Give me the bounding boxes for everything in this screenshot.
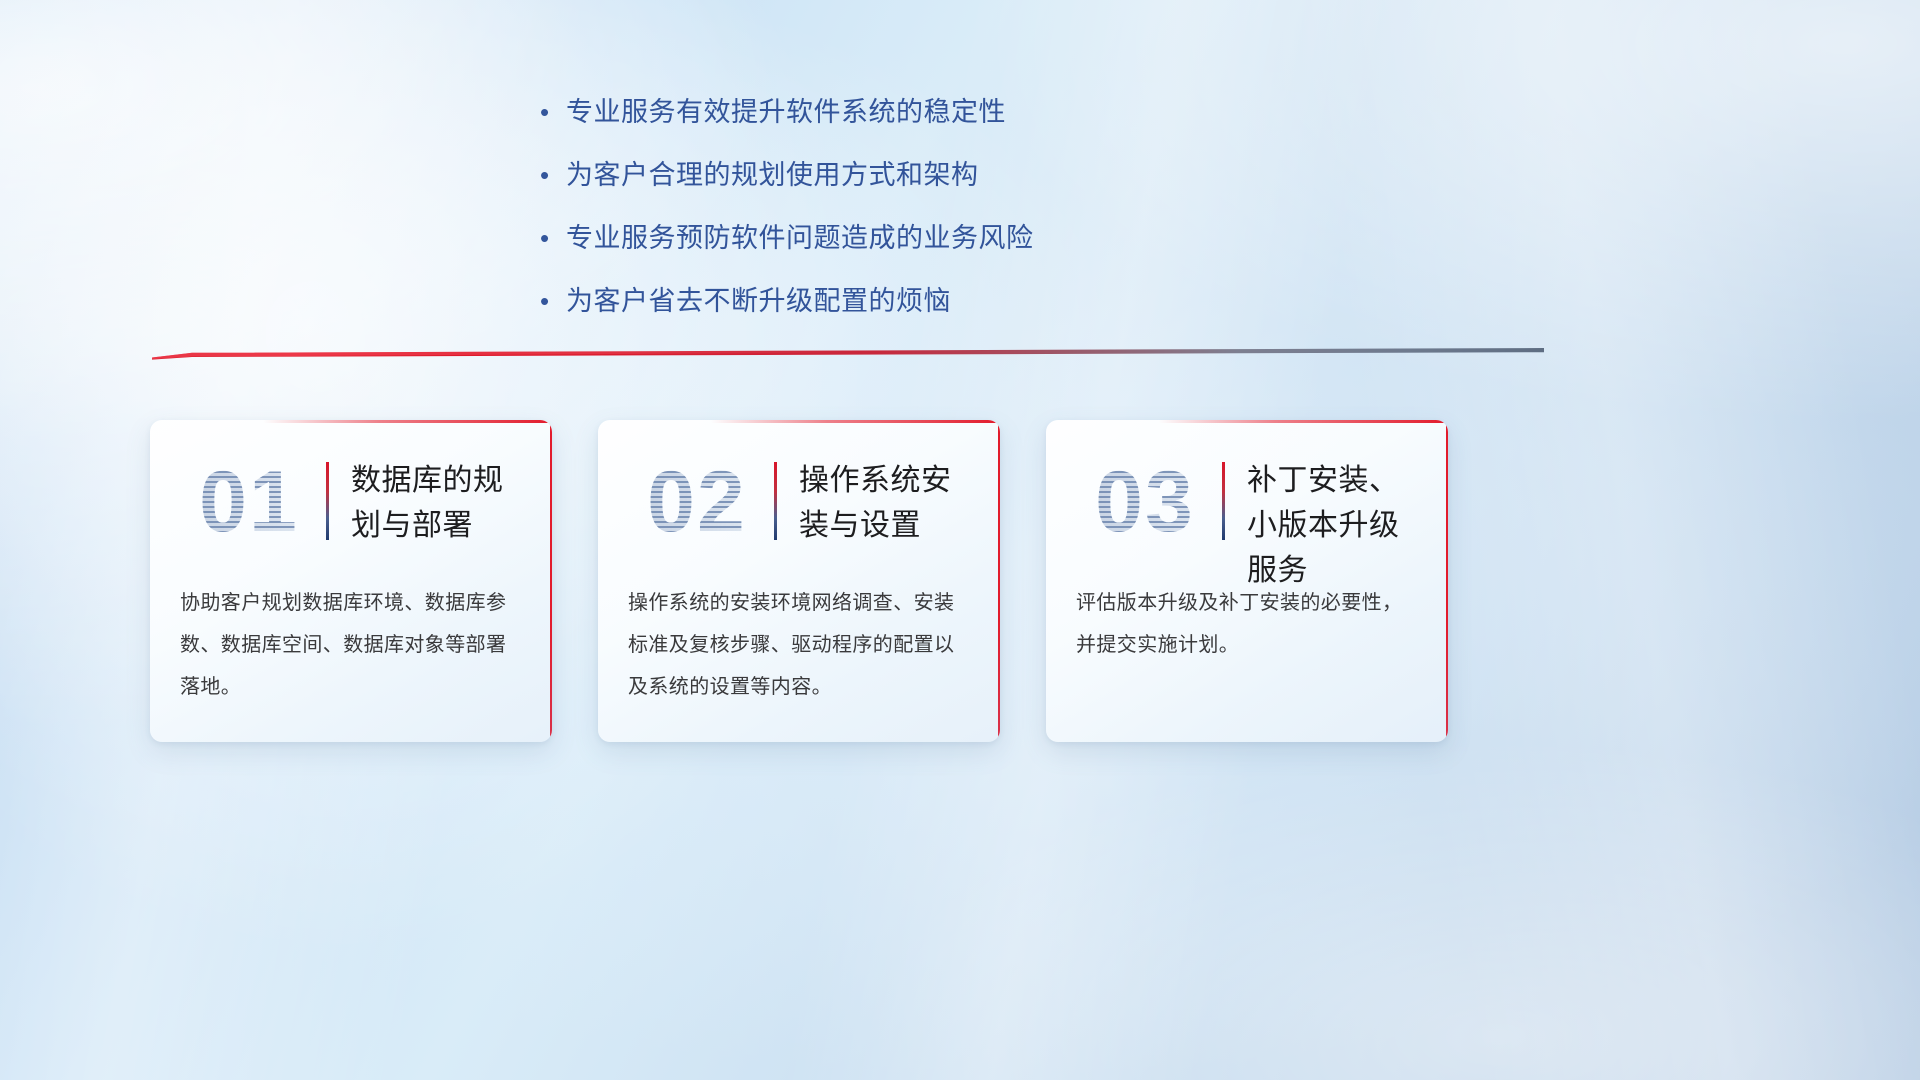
- bullet-text: 为客户省去不断升级配置的烦恼: [566, 281, 951, 321]
- card-divider-rule: [1222, 462, 1225, 540]
- card-divider-rule: [774, 462, 777, 540]
- card-header: 03 补丁安装、小版本升级服务: [1046, 420, 1448, 568]
- bullet-text: 专业服务有效提升软件系统的稳定性: [566, 92, 1006, 132]
- list-item: • 为客户合理的规划使用方式和架构: [540, 155, 1360, 195]
- bullet-list: • 专业服务有效提升软件系统的稳定性 • 为客户合理的规划使用方式和架构 • 专…: [540, 92, 1360, 344]
- card-header: 02 操作系统安装与设置: [598, 420, 1000, 568]
- bullet-marker-icon: •: [540, 218, 566, 258]
- bullet-text: 专业服务预防软件问题造成的业务风险: [566, 218, 1034, 258]
- slide-canvas: • 专业服务有效提升软件系统的稳定性 • 为客户合理的规划使用方式和架构 • 专…: [0, 0, 1920, 1080]
- list-item: • 专业服务预防软件问题造成的业务风险: [540, 218, 1360, 258]
- service-card-03[interactable]: 03 补丁安装、小版本升级服务 评估版本升级及补丁安装的必要性，并提交实施计划。: [1046, 420, 1448, 742]
- list-item: • 为客户省去不断升级配置的烦恼: [540, 281, 1360, 321]
- card-row: 01 数据库的规划与部署 协助客户规划数据库环境、数据库参数、数据库空间、数据库…: [150, 420, 1770, 750]
- service-card-01[interactable]: 01 数据库的规划与部署 协助客户规划数据库环境、数据库参数、数据库空间、数据库…: [150, 420, 552, 742]
- card-number: 01: [176, 446, 322, 558]
- divider-shape-icon: [152, 348, 1544, 362]
- bullet-marker-icon: •: [540, 155, 566, 195]
- bullet-text: 为客户合理的规划使用方式和架构: [566, 155, 979, 195]
- bullet-marker-icon: •: [540, 92, 566, 132]
- list-item: • 专业服务有效提升软件系统的稳定性: [540, 92, 1360, 132]
- divider: [152, 348, 1544, 362]
- card-header: 01 数据库的规划与部署: [150, 420, 552, 568]
- card-divider-rule: [326, 462, 329, 540]
- card-description: 操作系统的安装环境网络调查、安装标准及复核步骤、驱动程序的配置以及系统的设置等内…: [598, 568, 1000, 708]
- card-number: 02: [624, 446, 770, 558]
- card-title: 操作系统安装与设置: [799, 446, 978, 548]
- bullet-marker-icon: •: [540, 281, 566, 321]
- card-description: 协助客户规划数据库环境、数据库参数、数据库空间、数据库对象等部署落地。: [150, 568, 552, 708]
- card-title: 补丁安装、小版本升级服务: [1247, 446, 1426, 593]
- card-number: 03: [1072, 446, 1218, 558]
- service-card-02[interactable]: 02 操作系统安装与设置 操作系统的安装环境网络调查、安装标准及复核步骤、驱动程…: [598, 420, 1000, 742]
- card-title: 数据库的规划与部署: [351, 446, 530, 548]
